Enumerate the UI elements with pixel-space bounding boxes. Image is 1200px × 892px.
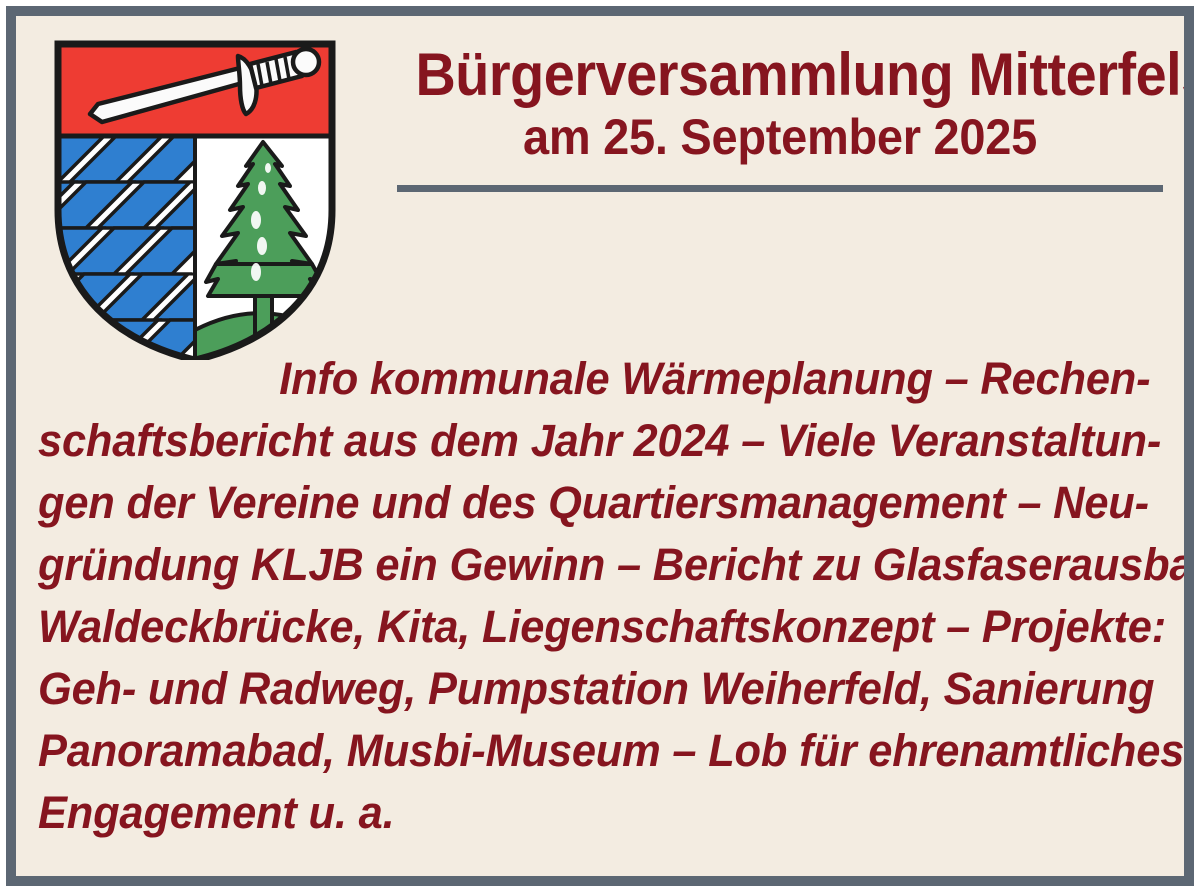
poster-content: Bürgerversammlung Mitterfels am 25. Sept… (16, 16, 1184, 876)
summary-line: Info kommunale Wärmeplanung – Rechen- (38, 348, 1130, 410)
coat-of-arms-icon (40, 30, 350, 360)
summary-line: gründung KLJB ein Gewinn – Bericht zu Gl… (38, 534, 1130, 596)
page-title: Bürgerversammlung Mitterfels (415, 44, 1144, 105)
summary-line: Geh- und Radweg, Pumpstation Weiherfeld,… (38, 658, 1130, 720)
summary-line: schaftsbericht aus dem Jahr 2024 – Viele… (38, 410, 1130, 472)
summary-line: gen der Vereine und des Quartiersmanagem… (38, 472, 1130, 534)
header-block: Bürgerversammlung Mitterfels am 25. Sept… (388, 44, 1172, 192)
summary-text: Info kommunale Wärmeplanung – Rechen- sc… (38, 348, 1130, 844)
summary-line: Waldeckbrücke, Kita, Liegenschaftskonzep… (38, 596, 1130, 658)
poster-frame: Bürgerversammlung Mitterfels am 25. Sept… (6, 6, 1194, 886)
summary-line: Panoramabad, Musbi-Museum – Lob für ehre… (38, 720, 1130, 782)
header-divider (397, 185, 1163, 192)
page-subtitle: am 25. September 2025 (412, 111, 1149, 163)
summary-line: Engagement u. a. (38, 782, 1130, 844)
